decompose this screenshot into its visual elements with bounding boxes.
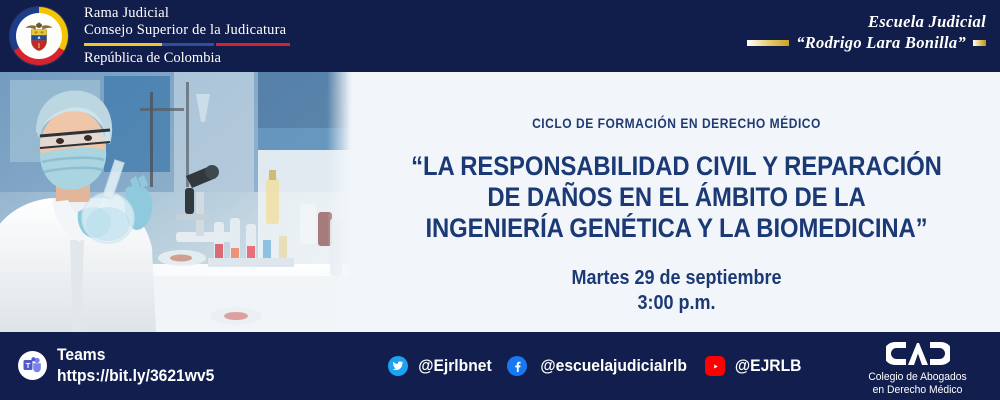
colombia-coat-of-arms-icon	[10, 7, 68, 65]
institution-line-2: Consejo Superior de la Judicatura	[84, 22, 290, 39]
footer-bar: T Teams https://bit.ly/3621wv5 @Ejrlbnet	[0, 332, 1000, 400]
teams-url[interactable]: https://bit.ly/3621wv5	[57, 365, 214, 386]
event-title: “LA RESPONSABILIDAD CIVIL Y REPARACIÓN D…	[385, 151, 967, 244]
cad-logo-block: Colegio de Abogados en Derecho Médico	[855, 340, 980, 397]
institution-line-3: República de Colombia	[84, 50, 290, 67]
event-title-line-1: “LA RESPONSABILIDAD CIVIL Y REPARACIÓN	[385, 151, 967, 182]
cad-line-2: en Derecho Médico	[859, 384, 977, 397]
svg-text:T: T	[26, 360, 31, 369]
event-datetime: Martes 29 de septiembre 3:00 p.m.	[385, 266, 967, 316]
event-title-line-3: INGENIERÍA GENÉTICA Y LA BIOMEDICINA”	[385, 213, 967, 244]
teams-text: Teams https://bit.ly/3621wv5	[57, 344, 214, 386]
judicial-school-branding: Escuela Judicial “Rodrigo Lara Bonilla”	[747, 12, 986, 53]
main-content: CICLO DE FORMACIÓN EN DERECHO MÉDICO “LA…	[353, 72, 1000, 332]
school-line-2: “Rodrigo Lara Bonilla”	[796, 33, 966, 53]
tricolor-rule	[84, 43, 290, 46]
cad-line-1: Colegio de Abogados	[859, 371, 977, 384]
facebook-icon[interactable]	[507, 356, 527, 376]
gold-bar-right-icon	[973, 40, 986, 46]
event-date: Martes 29 de septiembre	[385, 266, 967, 291]
twitter-handle[interactable]: @Ejrlbnet	[418, 356, 491, 376]
header-left-group: Rama Judicial Consejo Superior de la Jud…	[0, 5, 290, 67]
institution-titles: Rama Judicial Consejo Superior de la Jud…	[84, 5, 290, 67]
facebook-handle[interactable]: @escuelajudicialrlb	[540, 356, 687, 376]
event-poster: Rama Judicial Consejo Superior de la Jud…	[0, 0, 1000, 400]
social-links: @Ejrlbnet @escuelajudicialrlb @EJRLB	[388, 356, 809, 376]
event-kicker: CICLO DE FORMACIÓN EN DERECHO MÉDICO	[398, 115, 954, 131]
institution-line-1: Rama Judicial	[84, 5, 290, 22]
youtube-handle[interactable]: @EJRLB	[735, 356, 802, 376]
school-line-1: Escuela Judicial	[747, 12, 986, 32]
cad-caption: Colegio de Abogados en Derecho Médico	[859, 371, 977, 397]
event-time: 3:00 p.m.	[385, 291, 967, 316]
gold-bar-left-icon	[747, 40, 789, 46]
teams-link-block[interactable]: T Teams https://bit.ly/3621wv5	[18, 344, 228, 386]
microsoft-teams-icon: T	[18, 351, 47, 380]
youtube-icon[interactable]	[705, 356, 725, 376]
event-title-line-2: DE DAÑOS EN EL ÁMBITO DE LA	[385, 182, 967, 213]
laboratory-scientist-photo	[0, 72, 353, 332]
cad-monogram-icon	[886, 340, 950, 368]
teams-label: Teams	[57, 344, 214, 365]
twitter-icon[interactable]	[388, 356, 408, 376]
header-bar: Rama Judicial Consejo Superior de la Jud…	[0, 0, 1000, 72]
